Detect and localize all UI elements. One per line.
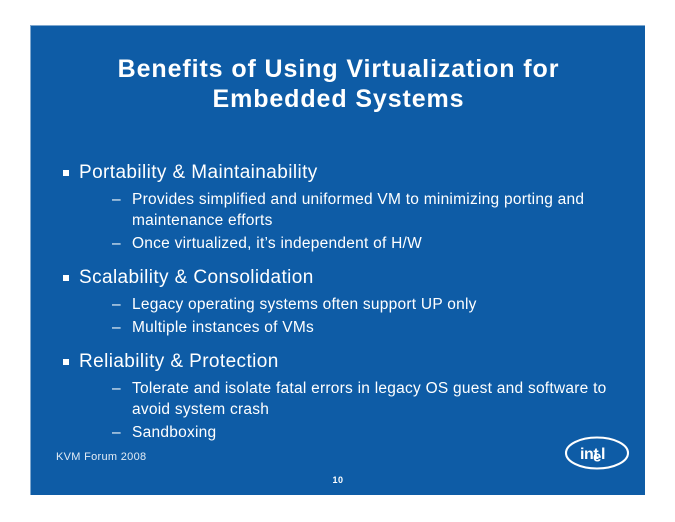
slide-title-line-1: Benefits of Using Virtualization for bbox=[59, 54, 618, 84]
intel-logo: int l e bbox=[563, 433, 631, 473]
sub-bullet-list-scalability: – Legacy operating systems often support… bbox=[63, 294, 633, 338]
list-item-label: Sandboxing bbox=[132, 422, 216, 443]
slide-title-line-2: Embedded Systems bbox=[59, 84, 618, 114]
dash-bullet-icon: – bbox=[112, 317, 127, 338]
bullet-section-scalability: Scalability & Consolidation – Legacy ope… bbox=[63, 265, 633, 338]
list-item: – Sandboxing bbox=[63, 422, 633, 443]
section-heading-scalability: Scalability & Consolidation bbox=[63, 265, 633, 291]
dash-bullet-icon: – bbox=[112, 294, 127, 315]
svg-text:e: e bbox=[593, 449, 601, 466]
square-bullet-icon bbox=[63, 170, 69, 176]
slide-body: Portability & Maintainability – Provides… bbox=[63, 160, 633, 454]
section-heading-reliability: Reliability & Protection bbox=[63, 349, 633, 375]
section-heading-label: Portability & Maintainability bbox=[79, 160, 318, 186]
section-heading-label: Scalability & Consolidation bbox=[79, 265, 314, 291]
list-item-label: Once virtualized, it’s independent of H/… bbox=[132, 233, 422, 254]
slide-title: Benefits of Using Virtualization for Emb… bbox=[59, 54, 618, 114]
dash-bullet-icon: – bbox=[112, 378, 127, 399]
list-item-label: Legacy operating systems often support U… bbox=[132, 294, 477, 315]
svg-text:l: l bbox=[601, 446, 605, 463]
footer-text: KVM Forum 2008 bbox=[56, 451, 146, 463]
list-item: – Once virtualized, it’s independent of … bbox=[63, 233, 633, 254]
square-bullet-icon bbox=[63, 275, 69, 281]
list-item: – Provides simplified and uniformed VM t… bbox=[63, 189, 633, 231]
square-bullet-icon bbox=[63, 359, 69, 365]
presentation-slide: Benefits of Using Virtualization for Emb… bbox=[30, 25, 645, 495]
slide-canvas: Benefits of Using Virtualization for Emb… bbox=[0, 0, 675, 522]
dash-bullet-icon: – bbox=[112, 422, 127, 443]
sub-bullet-list-reliability: – Tolerate and isolate fatal errors in l… bbox=[63, 378, 633, 443]
sub-bullet-list-portability: – Provides simplified and uniformed VM t… bbox=[63, 189, 633, 254]
bullet-section-portability: Portability & Maintainability – Provides… bbox=[63, 160, 633, 254]
list-item: – Multiple instances of VMs bbox=[63, 317, 633, 338]
bullet-section-reliability: Reliability & Protection – Tolerate and … bbox=[63, 349, 633, 443]
section-heading-portability: Portability & Maintainability bbox=[63, 160, 633, 186]
page-number: 10 bbox=[31, 475, 645, 485]
list-item-label: Multiple instances of VMs bbox=[132, 317, 314, 338]
section-heading-label: Reliability & Protection bbox=[79, 349, 279, 375]
list-item-label: Tolerate and isolate fatal errors in leg… bbox=[132, 378, 624, 420]
dash-bullet-icon: – bbox=[112, 189, 127, 210]
list-item-label: Provides simplified and uniformed VM to … bbox=[132, 189, 624, 231]
list-item: – Tolerate and isolate fatal errors in l… bbox=[63, 378, 633, 420]
list-item: – Legacy operating systems often support… bbox=[63, 294, 633, 315]
dash-bullet-icon: – bbox=[112, 233, 127, 254]
